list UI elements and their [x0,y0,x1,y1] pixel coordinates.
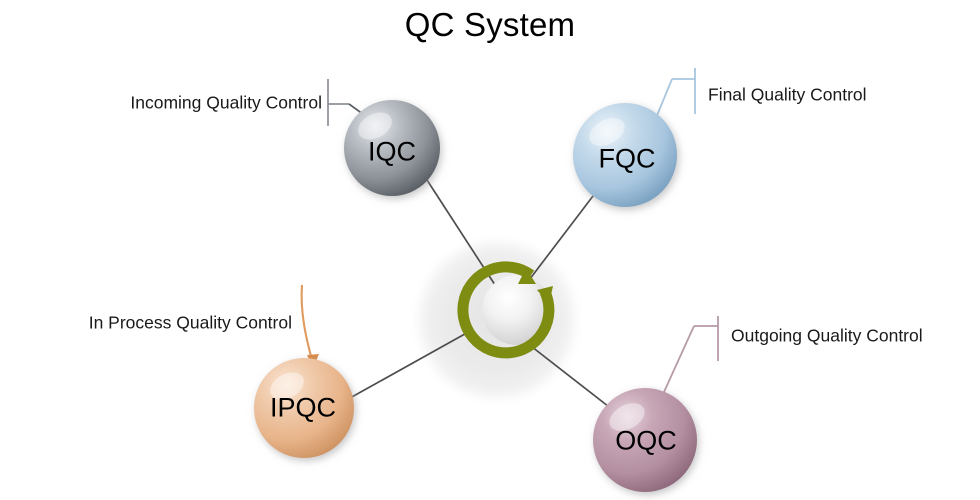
node-sphere-oqc[interactable] [593,388,697,492]
leader-oqc-arm [664,326,694,392]
leader-label-outgoing-quality-control: Outgoing Quality Control [731,326,923,347]
node-sphere-iqc[interactable] [344,100,440,196]
leader-label-in-process-quality-control: In Process Quality Control [89,313,292,334]
leader-fqc-arm [656,79,672,118]
node-sphere-ipqc[interactable] [254,358,354,458]
diagram-canvas: QC System [0,0,980,500]
diagram-graphics [0,0,980,500]
leader-ipqc-arrow [302,285,319,368]
leader-ipqc-curve [302,285,312,360]
leader-oqc [664,316,718,392]
leader-label-incoming-quality-control: Incoming Quality Control [130,93,322,114]
leader-label-final-quality-control: Final Quality Control [708,85,867,106]
node-sphere-fqc[interactable] [573,103,677,207]
leader-fqc [656,68,695,118]
